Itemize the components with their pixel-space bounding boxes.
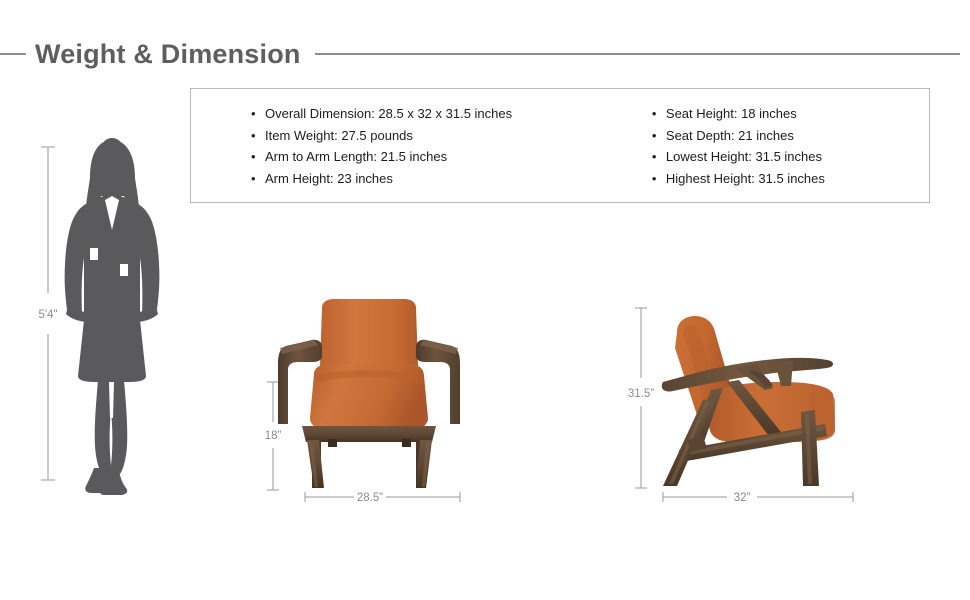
side-height-label: 31.5” bbox=[628, 388, 654, 400]
woman-silhouette-shape bbox=[65, 138, 160, 495]
title-rule-right bbox=[315, 53, 960, 55]
spec-text: Arm to Arm Length: 21.5 inches bbox=[265, 146, 447, 167]
bullet-icon: • bbox=[652, 125, 666, 146]
spec-text: Highest Height: 31.5 inches bbox=[666, 168, 825, 189]
spec-item-arm-to-arm-length: • Arm to Arm Length: 21.5 inches bbox=[251, 146, 590, 167]
spec-text: Lowest Height: 31.5 inches bbox=[666, 146, 822, 167]
side-width-dimension: 32” bbox=[663, 492, 853, 504]
spec-item-seat-height: • Seat Height: 18 inches bbox=[652, 103, 929, 124]
bullet-icon: • bbox=[251, 168, 265, 189]
spec-text: Overall Dimension: 28.5 x 32 x 31.5 inch… bbox=[265, 103, 512, 124]
page-title: Weight & Dimension bbox=[26, 39, 315, 70]
side-height-dimension: 31.5” bbox=[628, 308, 654, 488]
spec-item-item-weight: • Item Weight: 27.5 pounds bbox=[251, 125, 590, 146]
spec-column-right: • Seat Height: 18 inches • Seat Depth: 2… bbox=[590, 103, 929, 202]
chair-front-illustration bbox=[278, 299, 460, 488]
spec-item-arm-height: • Arm Height: 23 inches bbox=[251, 168, 590, 189]
chair-front-svg: 18” bbox=[250, 290, 490, 515]
spec-item-overall-dimension: • Overall Dimension: 28.5 x 32 x 31.5 in… bbox=[251, 103, 590, 124]
specifications-panel: • Overall Dimension: 28.5 x 32 x 31.5 in… bbox=[190, 88, 930, 203]
spec-text: Item Weight: 27.5 pounds bbox=[265, 125, 413, 146]
spec-text: Seat Height: 18 inches bbox=[666, 103, 797, 124]
page-header: Weight & Dimension bbox=[0, 33, 970, 75]
bullet-icon: • bbox=[251, 146, 265, 167]
chair-side-figure: 31.5” bbox=[615, 290, 875, 515]
spec-column-left: • Overall Dimension: 28.5 x 32 x 31.5 in… bbox=[191, 103, 590, 202]
bullet-icon: • bbox=[652, 103, 666, 124]
spec-text: Arm Height: 23 inches bbox=[265, 168, 393, 189]
bullet-icon: • bbox=[251, 125, 265, 146]
front-height-label: 18” bbox=[265, 430, 282, 442]
spec-item-highest-height: • Highest Height: 31.5 inches bbox=[652, 168, 929, 189]
human-silhouette-svg: 5'4" bbox=[20, 130, 200, 510]
human-scale-figure: 5'4" bbox=[20, 130, 200, 510]
person-height-dimension: 5'4" bbox=[38, 147, 57, 480]
front-width-dimension: 28.5” bbox=[305, 492, 460, 504]
person-height-label: 5'4" bbox=[38, 309, 57, 321]
bullet-icon: • bbox=[251, 103, 265, 124]
chair-front-figure: 18” bbox=[250, 290, 490, 515]
front-width-label: 28.5” bbox=[357, 492, 383, 504]
spec-item-seat-depth: • Seat Depth: 21 inches bbox=[652, 125, 929, 146]
side-width-label: 32” bbox=[734, 492, 751, 504]
spec-item-lowest-height: • Lowest Height: 31.5 inches bbox=[652, 146, 929, 167]
chair-side-illustration bbox=[662, 316, 835, 486]
bullet-icon: • bbox=[652, 168, 666, 189]
spec-text: Seat Depth: 21 inches bbox=[666, 125, 794, 146]
title-rule-left bbox=[0, 53, 26, 55]
bullet-icon: • bbox=[652, 146, 666, 167]
chair-side-svg: 31.5” bbox=[615, 290, 875, 515]
